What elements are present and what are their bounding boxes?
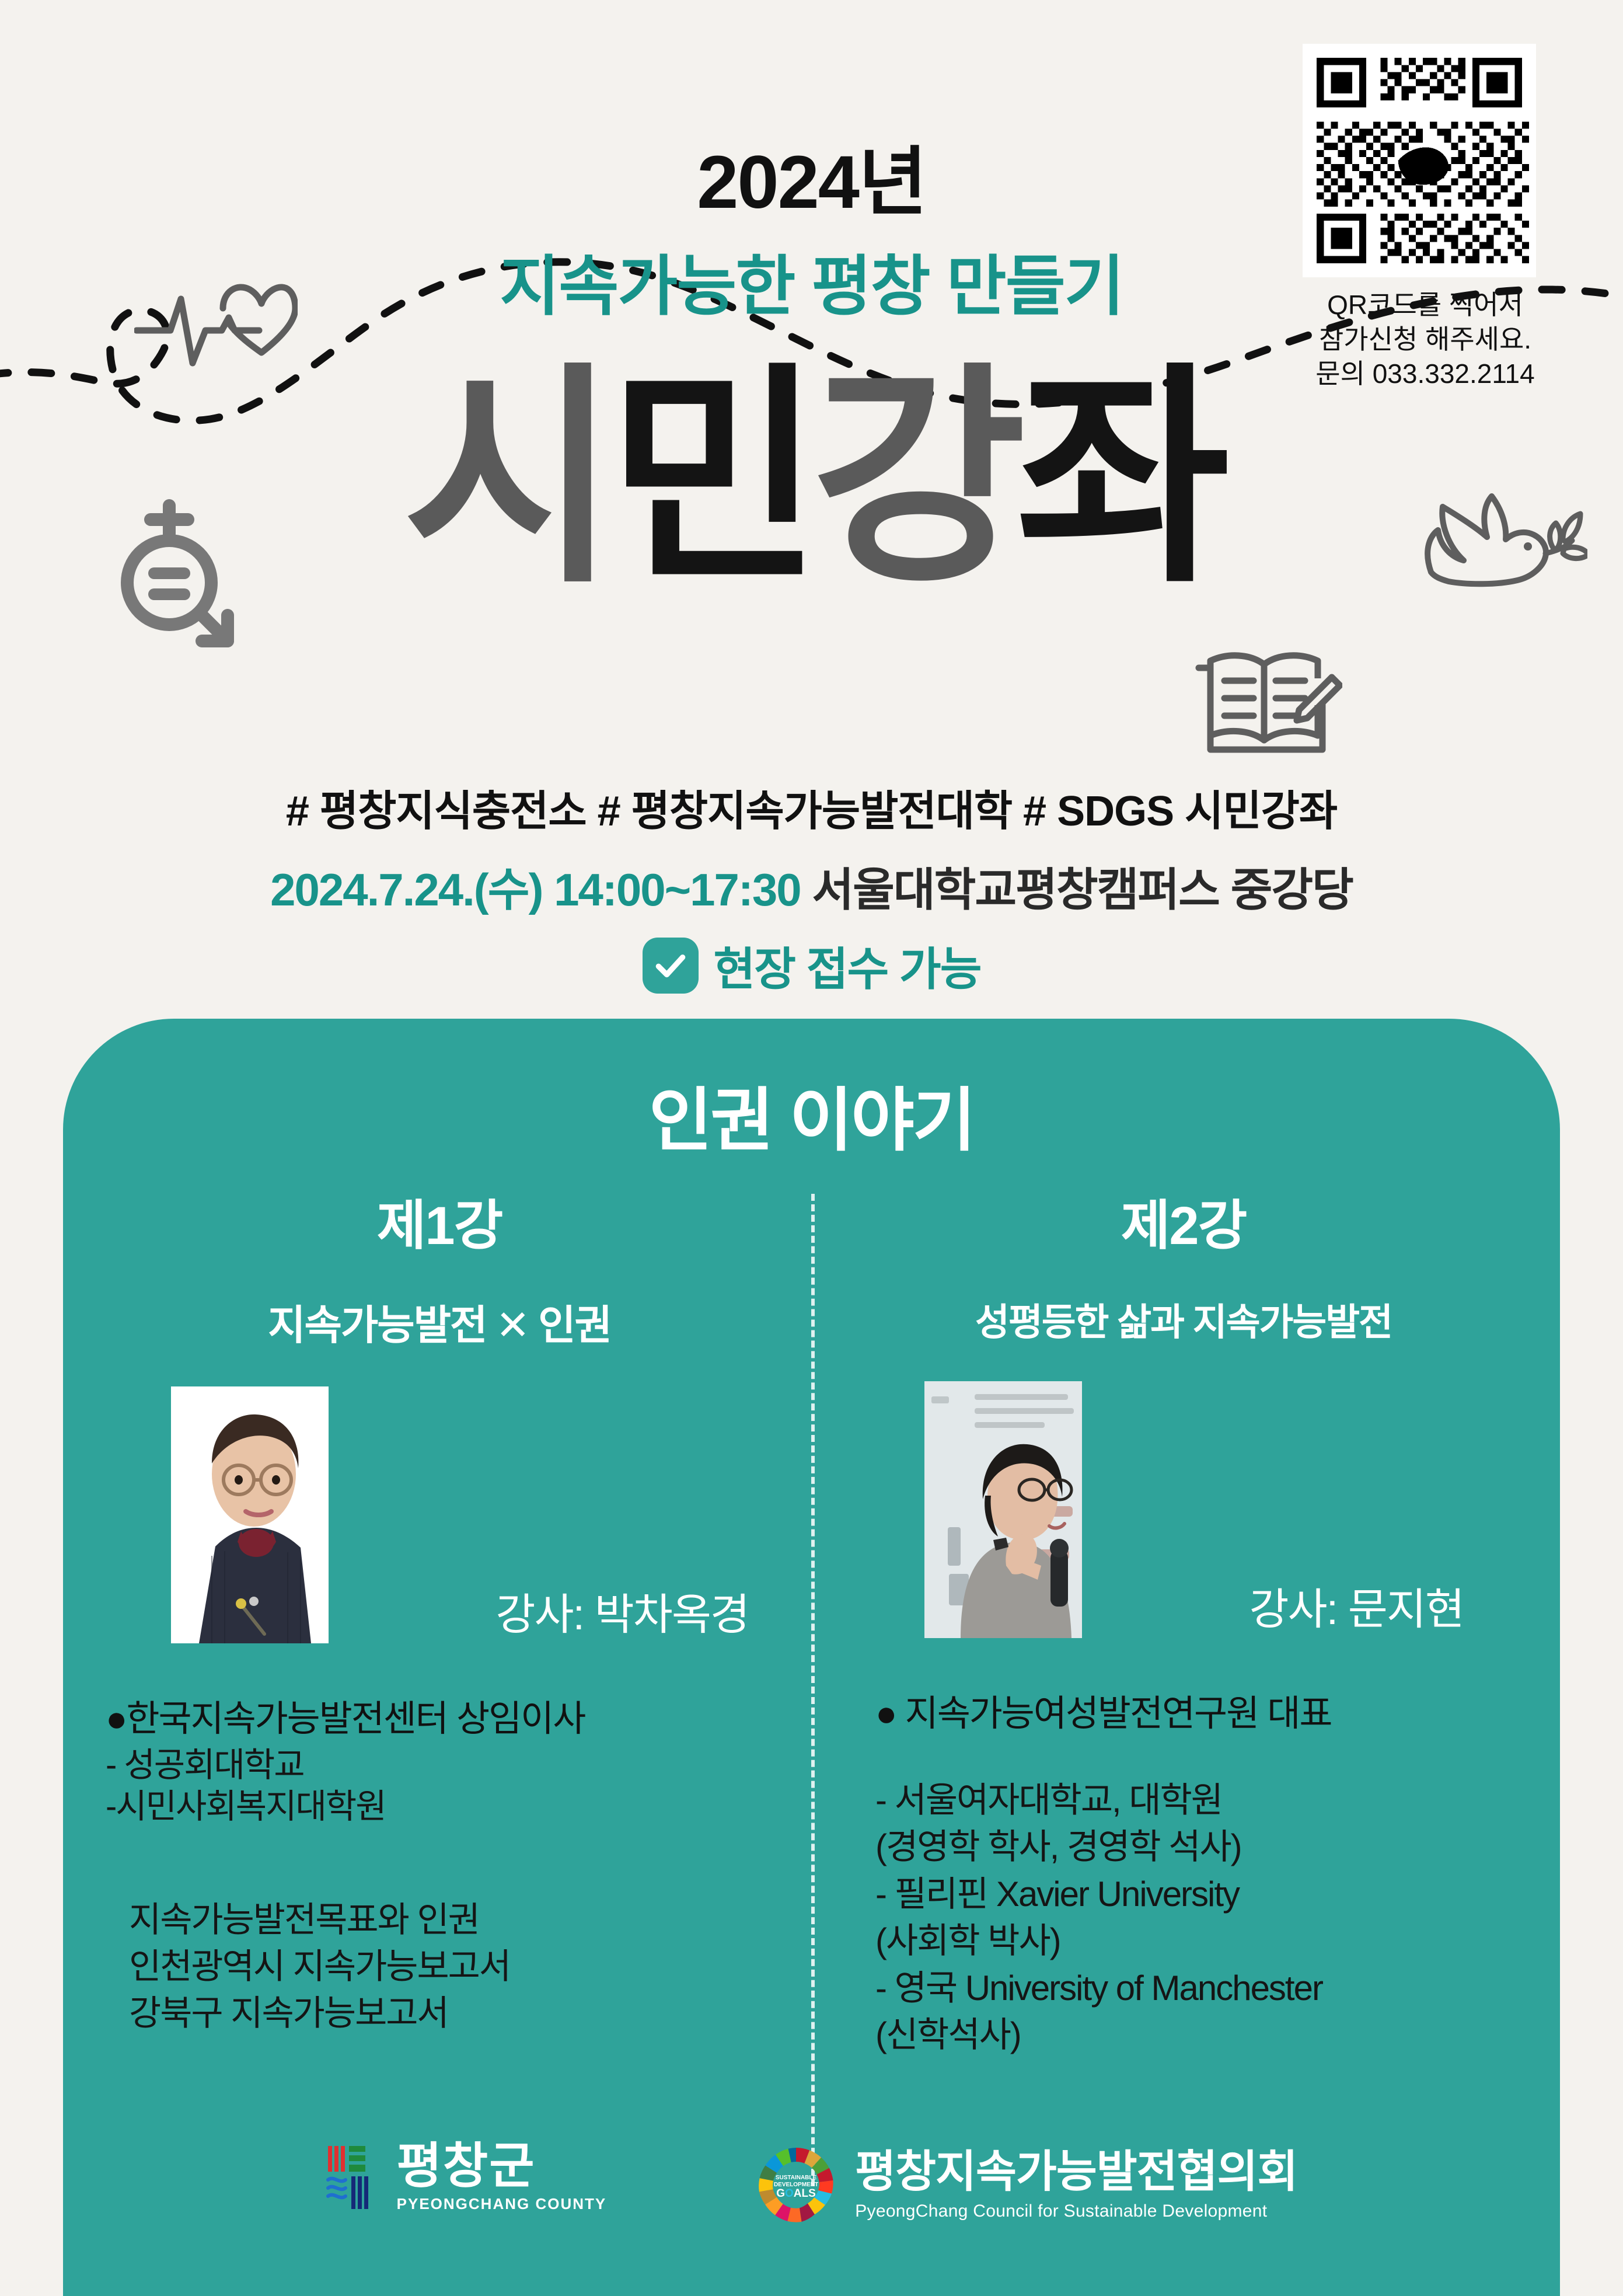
hashtag-line: # 평창지식충전소 # 평창지속가능발전대학 # SDGS 시민강좌 bbox=[0, 776, 1623, 838]
x-mark-icon: ✕ bbox=[495, 1301, 529, 1349]
bio-head-1: ●한국지속가능발전센터 상임이사 bbox=[106, 1689, 784, 1741]
footer-logos: 평창군 PYEONGCHANG COUNTY bbox=[63, 2141, 1560, 2246]
speaker-name-2: 강사: 문지현 bbox=[1249, 1574, 1464, 1637]
bio-spacer-2 bbox=[875, 1740, 1528, 1777]
panel-title: 인권 이야기 bbox=[63, 1064, 1560, 1164]
bio-body-1: 지속가능발전목표와 인권 인천광역시 지속가능보고서 강북구 지속가능보고서 bbox=[106, 1897, 784, 2037]
event-datetime: 2024.7.24.(수) 14:00~17:30 bbox=[270, 864, 801, 915]
speaker-photo-1 bbox=[171, 1386, 329, 1643]
bio-body-2-2: - 필리핀 Xavier University bbox=[875, 1871, 1528, 1918]
lecture-column-2: 제2강 성평등한 삶과 지속가능발전 bbox=[839, 1182, 1528, 2058]
lecture-column-1: 제1강 지속가능발전✕인권 bbox=[95, 1182, 784, 2037]
check-icon bbox=[643, 938, 699, 994]
speaker-name-1: 강사: 박차옥경 bbox=[495, 1580, 749, 1642]
onsite-label: 현장 접수 가능 bbox=[714, 933, 981, 998]
lecture-topic-1: 지속가능발전✕인권 bbox=[95, 1292, 784, 1351]
bio-body-1-0: 지속가능발전목표와 인권 bbox=[129, 1897, 784, 1943]
bio-body-2: - 서울여자대학교, 대학원 (경영학 학사, 경영학 석사) - 필리핀 Xa… bbox=[875, 1777, 1528, 2058]
lecture-topic-1-right: 인권 bbox=[538, 1302, 611, 1348]
pyeongchang-county-text: 평창군 PYEONGCHANG COUNTY bbox=[397, 2141, 607, 2213]
county-name-kr: 평창군 bbox=[397, 2141, 607, 2190]
speaker-bio-2: ● 지속가능여성발전연구원 대표 - 서울여자대학교, 대학원 (경영학 학사,… bbox=[839, 1684, 1528, 2058]
bio-line-1-0: - 성공회대학교 bbox=[106, 1745, 784, 1786]
bio-spacer-1 bbox=[106, 1828, 784, 1897]
qr-code-icon[interactable] bbox=[1303, 44, 1536, 277]
event-venue: 서울대학교평창캠퍼스 중강당 bbox=[812, 864, 1353, 915]
bio-line-1-1: -시민사회복지대학원 bbox=[106, 1786, 784, 1828]
svg-text:GOALS: GOALS bbox=[776, 2187, 816, 2200]
bio-body-1-1: 인천광역시 지속가능보고서 bbox=[129, 1943, 784, 1990]
pyeongchang-county-mark-icon bbox=[326, 2144, 382, 2211]
speaker-photo-row-2: 강사: 문지현 bbox=[839, 1381, 1528, 1650]
qr-caption-text: QR코드를 찍어서 참가신청 해주세요. 문의 033.332.2114 bbox=[1303, 288, 1548, 391]
poster-canvas: 2024년 지속가능한 평창 만들기 시민강좌 bbox=[0, 0, 1623, 2296]
poster-main-title: 시민강좌 bbox=[0, 362, 1623, 595]
lectures-panel: 인권 이야기 제1강 지속가능발전✕인권 bbox=[63, 1019, 1560, 2296]
council-name-kr: 평창지속가능발전협의회 bbox=[855, 2149, 1297, 2196]
title-char-1: 시 bbox=[403, 348, 608, 609]
onsite-registration-row: 현장 접수 가능 bbox=[0, 933, 1623, 998]
title-char-3: 강 bbox=[812, 348, 1016, 609]
datetime-venue-row: 2024.7.24.(수) 14:00~17:30 서울대학교평창캠퍼스 중강당 bbox=[0, 853, 1623, 919]
council-text: 평창지속가능발전협의회 PyeongChang Council for Sust… bbox=[855, 2149, 1297, 2221]
speaker-photo-row-1: 강사: 박차옥경 bbox=[95, 1386, 784, 1655]
lecture-number-2: 제2강 bbox=[839, 1182, 1528, 1260]
bio-body-2-3: (사회학 박사) bbox=[875, 1918, 1528, 1964]
lecture-topic-2: 성평등한 삶과 지속가능발전 bbox=[839, 1292, 1528, 1346]
bio-head-2: ● 지속가능여성발전연구원 대표 bbox=[875, 1684, 1528, 1736]
bio-body-1-2: 강북구 지속가능보고서 bbox=[129, 1990, 784, 2037]
speaker-bio-1: ●한국지속가능발전센터 상임이사 - 성공회대학교 -시민사회복지대학원 지속가… bbox=[95, 1689, 784, 2037]
bio-body-2-5: (신학석사) bbox=[875, 2012, 1528, 2058]
pyeongchang-county-logo: 평창군 PYEONGCHANG COUNTY bbox=[326, 2141, 607, 2213]
lecture-topic-1-left: 지속가능발전 bbox=[268, 1302, 486, 1348]
sdg-wheel-icon: SUSTAINABLE DEVELOPMENT GOALS bbox=[752, 2141, 840, 2229]
qr-registration-block[interactable]: QR코드를 찍어서 참가신청 해주세요. 문의 033.332.2114 bbox=[1303, 44, 1548, 391]
bio-body-2-0: - 서울여자대학교, 대학원 bbox=[875, 1777, 1528, 1824]
lecture-number-1: 제1강 bbox=[95, 1182, 784, 1260]
county-name-en: PYEONGCHANG COUNTY bbox=[397, 2195, 607, 2213]
open-book-with-pencil-icon bbox=[1185, 647, 1342, 781]
title-char-2: 민 bbox=[608, 348, 812, 609]
column-divider bbox=[811, 1194, 815, 2186]
bio-body-2-4: - 영국 University of Manchester bbox=[875, 1965, 1528, 2012]
council-logo: SUSTAINABLE DEVELOPMENT GOALS 평창지속가능발전협의… bbox=[752, 2141, 1297, 2229]
bio-body-2-1: (경영학 학사, 경영학 석사) bbox=[875, 1824, 1528, 1870]
council-name-en: PyeongChang Council for Sustainable Deve… bbox=[855, 2201, 1297, 2221]
title-char-4: 좌 bbox=[1016, 348, 1220, 609]
speaker-photo-2 bbox=[924, 1381, 1082, 1638]
svg-text:SUSTAINABLE: SUSTAINABLE bbox=[776, 2175, 817, 2181]
